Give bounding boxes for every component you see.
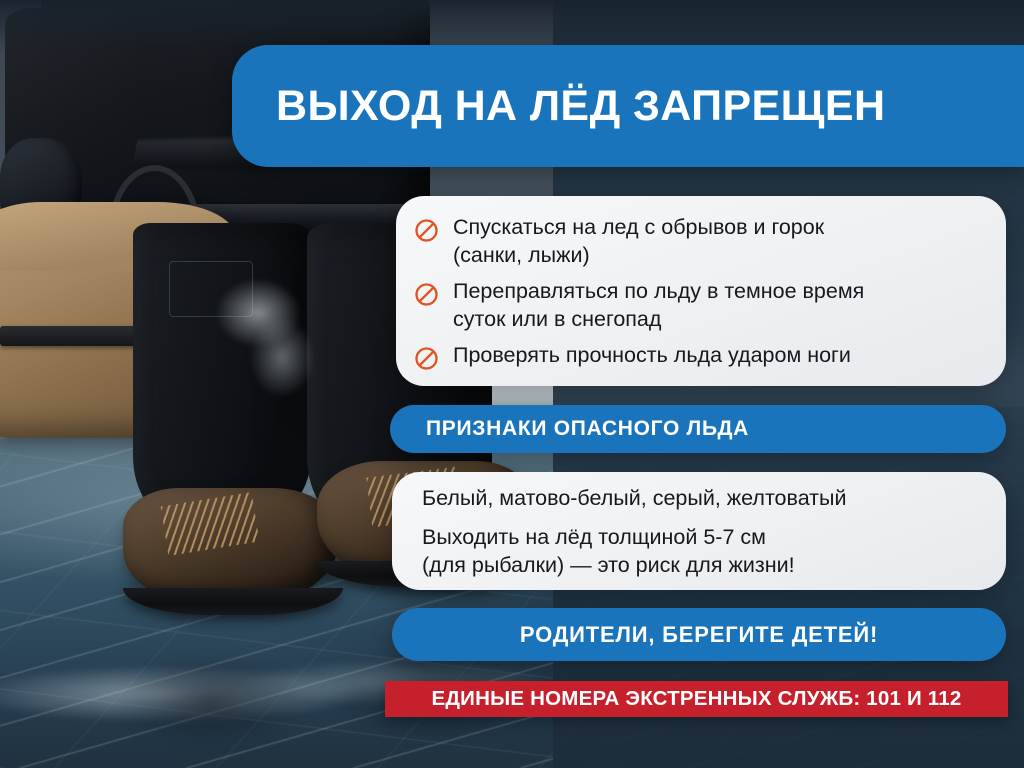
list-item-label: Проверять прочность льда ударом ноги	[453, 342, 851, 370]
left-boot-sole	[123, 588, 343, 616]
dangerous-ice-heading: ПРИЗНАКИ ОПАСНОГО ЛЬДА	[390, 405, 1006, 453]
ice-safety-poster: ВЫХОД НА ЛЁД ЗАПРЕЩЕН Спускаться на лед …	[0, 0, 1024, 768]
parents-warning-label: РОДИТЕЛИ, БЕРЕГИТЕ ДЕТЕЙ!	[520, 622, 878, 648]
emergency-numbers-bar: ЕДИНЫЕ НОМЕРА ЭКСТРЕННЫХ СЛУЖБ: 101 И 11…	[385, 681, 1008, 717]
dangerous-ice-line-1: Белый, матово-белый, серый, желтоватый	[422, 485, 980, 513]
dangerous-ice-card: Белый, матово-белый, серый, желтоватый В…	[392, 472, 1006, 590]
dangerous-ice-line-2: Выходить на лёд толщиной 5-7 см (для рыб…	[422, 524, 980, 579]
list-item: Переправляться по льду в темное время су…	[414, 278, 980, 334]
title-banner: ВЫХОД НА ЛЁД ЗАПРЕЩЕН	[232, 45, 1024, 167]
list-item-label: Спускаться на лед с обрывов и горок (сан…	[453, 214, 824, 270]
parents-warning-banner: РОДИТЕЛИ, БЕРЕГИТЕ ДЕТЕЙ!	[392, 608, 1006, 661]
no-entry-icon	[414, 346, 439, 371]
page-title: ВЫХОД НА ЛЁД ЗАПРЕЩЕН	[232, 82, 885, 131]
prohibited-list: Спускаться на лед с обрывов и горок (сан…	[414, 214, 980, 371]
list-item-label: Переправляться по льду в темное время су…	[453, 278, 864, 334]
dangerous-ice-heading-label: ПРИЗНАКИ ОПАСНОГО ЛЬДА	[390, 417, 749, 441]
prohibited-actions-card: Спускаться на лед с обрывов и горок (сан…	[396, 196, 1006, 386]
emergency-numbers-label: ЕДИНЫЕ НОМЕРА ЭКСТРЕННЫХ СЛУЖБ: 101 И 11…	[432, 687, 962, 711]
list-item: Спускаться на лед с обрывов и горок (сан…	[414, 214, 980, 270]
no-entry-icon	[414, 282, 439, 307]
list-item: Проверять прочность льда ударом ноги	[414, 342, 980, 371]
snow-smear	[205, 276, 338, 399]
no-entry-icon	[414, 218, 439, 243]
